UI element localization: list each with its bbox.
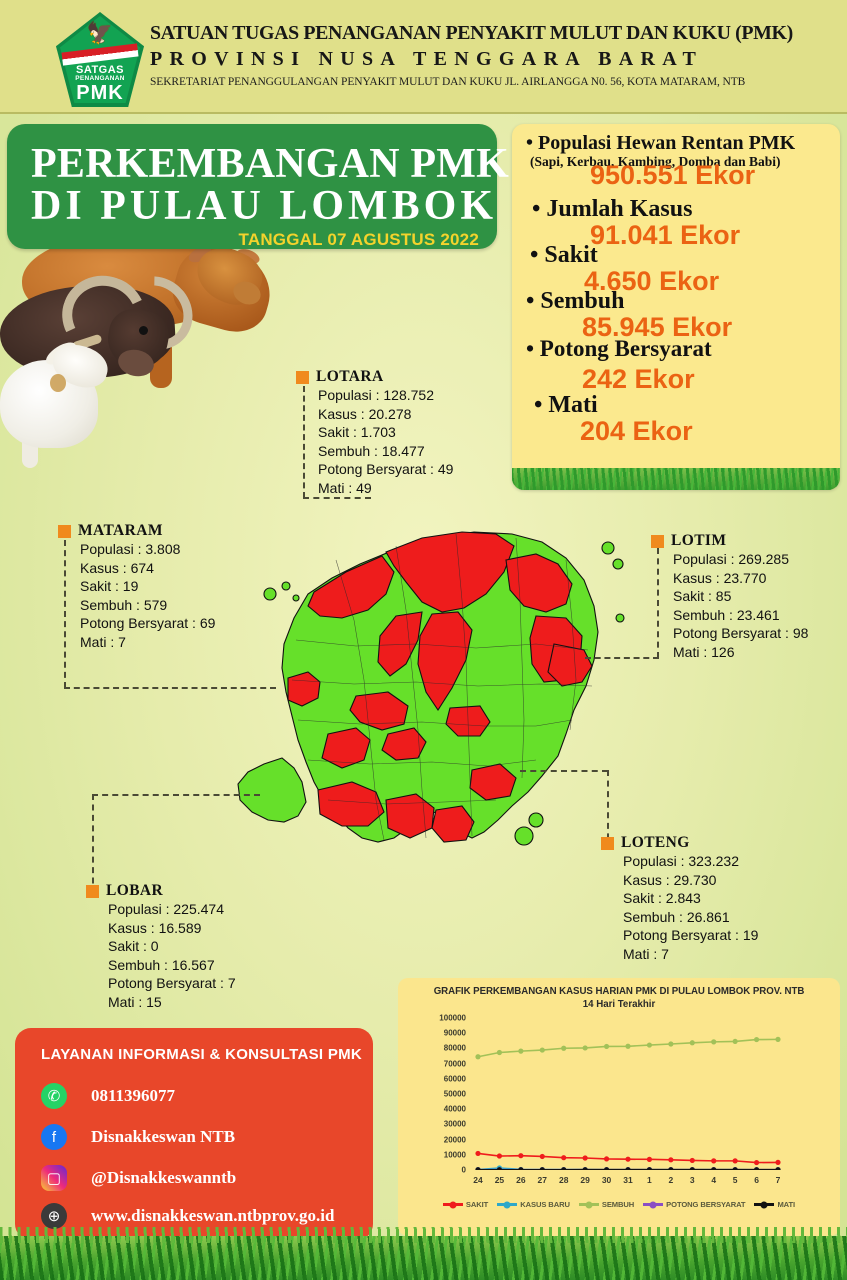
connector-line [92, 794, 260, 796]
region-stat-mati: Mati : 49 [318, 479, 453, 498]
region-stat-mati: Mati : 7 [80, 633, 215, 652]
region-stat-potong: Potong Bersyarat : 7 [108, 974, 236, 993]
page-title-line2: DI PULAU LOMBOK [31, 182, 497, 230]
chart-legend-label: POTONG BERSYARAT [666, 1200, 745, 1209]
legend-square-icon [86, 885, 99, 898]
chart-xtick: 28 [559, 1175, 568, 1185]
chart-point [711, 1167, 716, 1170]
region-callout-lotara[interactable]: LOTARA Populasi : 128.752 Kasus : 20.278… [296, 368, 453, 498]
region-stat-sembuh: Sembuh : 26.861 [623, 908, 758, 927]
chart-legend-dot [449, 1201, 456, 1208]
chart-point [518, 1049, 523, 1054]
contact-text-4: www.disnakkeswan.ntbprov.go.id [91, 1206, 334, 1226]
chart-legend-dot [761, 1201, 768, 1208]
grass-footer-icon [0, 1236, 847, 1280]
chart-legend-item[interactable]: KASUS BARU [497, 1200, 570, 1209]
contact-row-2[interactable]: fDisnakkeswan NTB [41, 1124, 235, 1150]
region-stat-sakit: Sakit : 85 [673, 587, 808, 606]
header-text-block: SATUAN TUGAS PENANGANAN PENYAKIT MULUT D… [150, 22, 840, 88]
buffalo-eye [139, 326, 148, 335]
title-banner: PERKEMBANGAN PMK DI PULAU LOMBOK TANGGAL… [7, 124, 497, 249]
chart-point [604, 1156, 609, 1161]
stat-value-2: 91.041 Ekor [590, 220, 740, 251]
grass-divider-icon [512, 468, 840, 490]
contact-panel-title: LAYANAN INFORMASI & KONSULTASI PMK [41, 1046, 362, 1063]
satgas-pmk-logo: 🦅 SATGAS PENANGANAN PMK [56, 12, 144, 107]
contact-text-1: 0811396077 [91, 1086, 175, 1106]
chart-legend-dot [504, 1201, 511, 1208]
region-name: LOBAR [106, 882, 163, 900]
region-stat-sembuh: Sembuh : 16.567 [108, 956, 236, 975]
chart-legend-label: KASUS BARU [520, 1200, 570, 1209]
region-callout-lobar[interactable]: LOBAR Populasi : 225.474 Kasus : 16.589 … [86, 882, 236, 1012]
region-stat-populasi: Populasi : 323.232 [623, 852, 758, 871]
region-name: LOTIM [671, 532, 726, 550]
chart-legend-label: SEMBUH [602, 1200, 634, 1209]
stat-label-6: • Mati [534, 392, 598, 419]
chart-point [604, 1044, 609, 1049]
region-stat-mati: Mati : 7 [623, 945, 758, 964]
legend-square-icon [651, 535, 664, 548]
chart-point [625, 1167, 630, 1170]
instagram-icon[interactable]: ▢ [41, 1165, 67, 1191]
chart-legend-swatch [579, 1203, 599, 1206]
region-header: LOBAR [86, 882, 236, 900]
chart-point [475, 1167, 480, 1170]
map-islet [293, 595, 299, 601]
region-callout-loteng[interactable]: LOTENG Populasi : 323.232 Kasus : 29.730… [601, 834, 758, 964]
chart-xtick: 6 [754, 1175, 759, 1185]
map-islet [282, 582, 290, 590]
infographic-page: 🦅 SATGAS PENANGANAN PMK SATUAN TUGAS PEN… [0, 0, 847, 1280]
chart-xtick: 26 [516, 1175, 525, 1185]
chart-point [647, 1157, 652, 1162]
chart-plot-area: 0100002000030000400005000060000700008000… [472, 1018, 784, 1170]
chart-ytick: 50000 [444, 1090, 466, 1099]
region-stat-populasi: Populasi : 128.752 [318, 386, 453, 405]
goat-spot [50, 374, 66, 392]
region-stat-sembuh: Sembuh : 23.461 [673, 606, 808, 625]
logo-text-pmk: PMK [56, 82, 144, 105]
chart-point [518, 1153, 523, 1158]
chart-title: GRAFIK PERKEMBANGAN KASUS HARIAN PMK DI … [398, 986, 840, 997]
chart-point [583, 1045, 588, 1050]
map-islet [602, 542, 614, 554]
region-callout-mataram[interactable]: MATARAM Populasi : 3.808 Kasus : 674 Sak… [58, 522, 215, 652]
chart-xtick: 7 [776, 1175, 781, 1185]
chart-point [561, 1155, 566, 1160]
legend-square-icon [296, 371, 309, 384]
chart-point [775, 1037, 780, 1042]
header-line-2: PROVINSI NUSA TENGGARA BARAT [150, 48, 840, 71]
page-title-line1: PERKEMBANGAN PMK [31, 140, 509, 188]
chart-xtick: 4 [711, 1175, 716, 1185]
report-date: TANGGAL 07 AGUSTUS 2022 [239, 230, 479, 250]
chart-point [733, 1158, 738, 1163]
chart-series-svg [472, 1018, 784, 1170]
chart-ytick: 20000 [444, 1135, 466, 1144]
chart-point [711, 1039, 716, 1044]
chart-point [625, 1044, 630, 1049]
chart-point [690, 1158, 695, 1163]
chart-legend-item[interactable]: POTONG BERSYARAT [643, 1200, 745, 1209]
region-stat-kasus: Kasus : 23.770 [673, 569, 808, 588]
chart-point [711, 1158, 716, 1163]
region-callout-lotim[interactable]: LOTIM Populasi : 269.285 Kasus : 23.770 … [651, 532, 808, 662]
chart-xtick: 3 [690, 1175, 695, 1185]
stat-label-4: • Sembuh [526, 288, 624, 315]
chart-xtick: 31 [623, 1175, 632, 1185]
chart-legend-swatch [754, 1203, 774, 1206]
chart-xtick: 25 [495, 1175, 504, 1185]
stat-label-5: • Potong Bersyarat [526, 336, 712, 362]
region-stat-populasi: Populasi : 3.808 [80, 540, 215, 559]
contact-text-3: @Disnakkeswanntb [91, 1168, 236, 1188]
chart-ytick: 30000 [444, 1120, 466, 1129]
chart-legend: SAKITKASUS BARUSEMBUHPOTONG BERSYARATMAT… [398, 1200, 840, 1209]
chart-point [754, 1037, 759, 1042]
chart-point [475, 1151, 480, 1156]
chart-ytick: 80000 [444, 1044, 466, 1053]
chart-point [583, 1167, 588, 1170]
chart-legend-label: MATI [777, 1200, 795, 1209]
chart-legend-dot [585, 1201, 592, 1208]
chart-point [540, 1047, 545, 1052]
lombok-island-map [236, 520, 656, 920]
region-stat-potong: Potong Bersyarat : 19 [623, 926, 758, 945]
chart-ytick: 40000 [444, 1105, 466, 1114]
chart-point [583, 1155, 588, 1160]
region-stat-potong: Potong Bersyarat : 98 [673, 624, 808, 643]
chart-subtitle: 14 Hari Terakhir [398, 999, 840, 1010]
chart-point [604, 1167, 609, 1170]
stat-label-2: • Jumlah Kasus [532, 196, 692, 223]
chart-xtick: 2 [668, 1175, 673, 1185]
stat-label-1: • Populasi Hewan Rentan PMK [526, 132, 795, 155]
header-bar: 🦅 SATGAS PENANGANAN PMK SATUAN TUGAS PEN… [0, 0, 847, 114]
region-stat-kasus: Kasus : 16.589 [108, 919, 236, 938]
chart-legend-label: SAKIT [466, 1200, 488, 1209]
chart-xtick: 27 [538, 1175, 547, 1185]
region-header: LOTENG [601, 834, 758, 852]
chart-point [733, 1039, 738, 1044]
chart-point [690, 1167, 695, 1170]
chart-point [668, 1041, 673, 1046]
chart-point [668, 1157, 673, 1162]
region-stat-kasus: Kasus : 20.278 [318, 405, 453, 424]
chart-point [775, 1167, 780, 1170]
map-region-west-peninsula [238, 758, 306, 822]
chart-legend-item[interactable]: SEMBUH [579, 1200, 634, 1209]
connector-line [585, 657, 659, 659]
garuda-icon: 🦅 [87, 23, 113, 44]
livestock-illustration [0, 228, 300, 458]
chart-legend-swatch [643, 1203, 663, 1206]
connector-line [64, 687, 276, 689]
legend-square-icon [58, 525, 71, 538]
chart-point [647, 1167, 652, 1170]
header-line-1: SATUAN TUGAS PENANGANAN PENYAKIT MULUT D… [150, 22, 819, 45]
map-islet [616, 614, 624, 622]
region-stat-sembuh: Sembuh : 579 [80, 596, 215, 615]
whatsapp-icon[interactable]: ✆ [41, 1083, 67, 1109]
stat-label-3: • Sakit [530, 242, 598, 269]
chart-ytick: 0 [462, 1166, 466, 1175]
region-stat-mati: Mati : 126 [673, 643, 808, 662]
contact-row-1[interactable]: ✆0811396077 [41, 1083, 175, 1109]
chart-ytick: 10000 [444, 1150, 466, 1159]
region-stat-sakit: Sakit : 19 [80, 577, 215, 596]
stat-value-1: 950.551 Ekor [590, 160, 755, 191]
region-stat-kasus: Kasus : 674 [80, 559, 215, 578]
region-stat-mati: Mati : 15 [108, 993, 236, 1012]
region-header: LOTIM [651, 532, 808, 550]
chart-point [733, 1167, 738, 1170]
chart-point [754, 1167, 759, 1170]
chart-point [561, 1167, 566, 1170]
contact-panel: LAYANAN INFORMASI & KONSULTASI PMK ✆0811… [15, 1028, 373, 1240]
region-name: MATARAM [78, 522, 163, 540]
contact-text-2: Disnakkeswan NTB [91, 1127, 235, 1147]
region-stat-potong: Potong Bersyarat : 49 [318, 460, 453, 479]
chart-point [754, 1160, 759, 1165]
chart-xtick: 1 [647, 1175, 652, 1185]
logo-text-penanganan: PENANGANAN [56, 75, 144, 82]
chart-xtick: 5 [733, 1175, 738, 1185]
chart-point [497, 1153, 502, 1158]
chart-ytick: 70000 [444, 1059, 466, 1068]
stat-value-6: 204 Ekor [580, 416, 693, 447]
chart-ytick: 90000 [444, 1029, 466, 1038]
chart-ytick: 60000 [444, 1074, 466, 1083]
region-name: LOTENG [621, 834, 690, 852]
region-stat-sakit: Sakit : 1.703 [318, 423, 453, 442]
map-islet [613, 559, 623, 569]
chart-point [518, 1167, 523, 1170]
chart-xtick: 29 [580, 1175, 589, 1185]
region-name: LOTARA [316, 368, 384, 386]
map-islet [515, 827, 533, 845]
globe-icon[interactable]: ⊕ [41, 1203, 67, 1229]
stat-value-5: 242 Ekor [582, 364, 695, 395]
region-stat-populasi: Populasi : 225.474 [108, 900, 236, 919]
chart-ytick: 100000 [439, 1014, 466, 1023]
contact-row-3[interactable]: ▢@Disnakkeswanntb [41, 1165, 236, 1191]
daily-cases-chart-panel: GRAFIK PERKEMBANGAN KASUS HARIAN PMK DI … [398, 978, 840, 1236]
region-header: MATARAM [58, 522, 215, 540]
chart-legend-swatch [497, 1203, 517, 1206]
chart-point [775, 1160, 780, 1165]
region-header: LOTARA [296, 368, 453, 386]
chart-point [647, 1042, 652, 1047]
chart-legend-item[interactable]: SAKIT [443, 1200, 488, 1209]
region-stat-sembuh: Sembuh : 18.477 [318, 442, 453, 461]
map-islet [529, 813, 543, 827]
region-stat-potong: Potong Bersyarat : 69 [80, 614, 215, 633]
chart-xtick: 30 [602, 1175, 611, 1185]
region-stat-kasus: Kasus : 29.730 [623, 871, 758, 890]
map-svg [236, 520, 656, 920]
contact-row-4[interactable]: ⊕www.disnakkeswan.ntbprov.go.id [41, 1203, 334, 1229]
header-line-3: SEKRETARIAT PENANGGULANGAN PENYAKIT MULU… [150, 76, 840, 88]
chart-point [540, 1154, 545, 1159]
region-stat-sakit: Sakit : 0 [108, 937, 236, 956]
chart-point [668, 1167, 673, 1170]
chart-legend-swatch [443, 1203, 463, 1206]
legend-square-icon [601, 837, 614, 850]
connector-line [92, 794, 94, 894]
chart-point [690, 1040, 695, 1045]
region-stat-populasi: Populasi : 269.285 [673, 550, 808, 569]
summary-stats-panel: • Populasi Hewan Rentan PMK(Sapi, Kerbau… [512, 124, 840, 490]
map-islet [264, 588, 276, 600]
facebook-icon[interactable]: f [41, 1124, 67, 1150]
connector-line [520, 770, 608, 772]
chart-point [540, 1167, 545, 1170]
chart-legend-dot [650, 1201, 657, 1208]
chart-point [475, 1054, 480, 1059]
chart-xtick: 24 [473, 1175, 482, 1185]
chart-point [561, 1046, 566, 1051]
region-stat-sakit: Sakit : 2.843 [623, 889, 758, 908]
chart-legend-item[interactable]: MATI [754, 1200, 795, 1209]
chart-point [497, 1050, 502, 1055]
chart-point [625, 1157, 630, 1162]
